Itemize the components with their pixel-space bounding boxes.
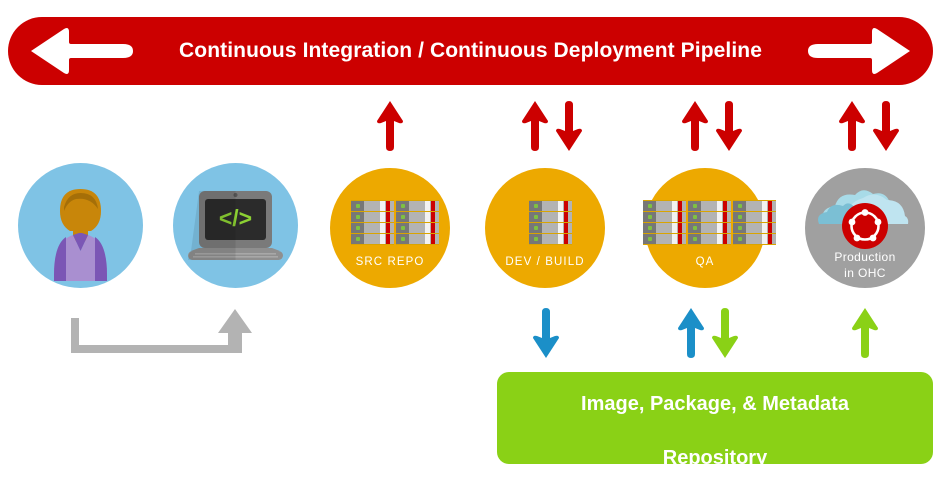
server-rack: [351, 200, 394, 245]
pipeline-arrow-down-qa: [715, 100, 743, 152]
pipeline-arrow-up-src-repo: [376, 100, 404, 152]
repository-box: Image, Package, & Metadata Repository: [497, 372, 933, 464]
node-label-dev-build: DEV / BUILD: [485, 255, 605, 269]
node-label-src-repo: SRC REPO: [330, 255, 450, 269]
server-rack-icon: [529, 200, 572, 245]
arrow-right-icon: [807, 26, 911, 76]
pull-arrow-up-production: [851, 307, 879, 359]
server-rack: [529, 200, 572, 245]
pipeline-arrow-down-dev-build: [555, 100, 583, 152]
pipeline-arrow-down-production: [872, 100, 900, 152]
node-developer: [18, 163, 143, 288]
pipeline-arrow-up-qa: [681, 100, 709, 152]
node-qa: QA: [645, 168, 765, 288]
repository-line1: Image, Package, & Metadata: [581, 393, 849, 415]
node-src-repo: SRC REPO: [330, 168, 450, 288]
pipeline-banner: Continuous Integration / Continuous Depl…: [8, 17, 933, 85]
arrow-left-icon: [30, 26, 134, 76]
developer-to-workstation-connector: [60, 305, 280, 365]
server-rack: [688, 200, 731, 245]
node-dev-build: DEV / BUILD: [485, 168, 605, 288]
node-label-production-line1: Production: [805, 250, 925, 264]
page-title: Continuous Integration / Continuous Depl…: [179, 39, 762, 63]
cicd-pipeline-diagram: Continuous Integration / Continuous Depl…: [0, 0, 941, 500]
push-arrow-up-qa: [677, 307, 705, 359]
node-workstation: </>: [173, 163, 298, 288]
node-production: Production in OHC: [805, 168, 925, 288]
person-icon: [18, 163, 143, 288]
server-rack-icon: [351, 200, 439, 245]
repository-line2: Repository: [663, 447, 767, 469]
pipeline-arrow-up-dev-build: [521, 100, 549, 152]
push-arrow-down-dev-build: [532, 307, 560, 359]
laptop-code-icon: </>: [173, 163, 298, 288]
server-rack: [643, 200, 686, 245]
repository-label-line1: Image, Package, & Metadata Repository: [581, 364, 849, 472]
pipeline-arrow-up-production: [838, 100, 866, 152]
server-rack: [733, 200, 776, 245]
pull-arrow-down-qa: [711, 307, 739, 359]
server-rack-icon: [643, 200, 776, 245]
node-label-qa: QA: [645, 255, 765, 269]
node-label-production-line2: in OHC: [805, 266, 925, 280]
server-rack: [396, 200, 439, 245]
